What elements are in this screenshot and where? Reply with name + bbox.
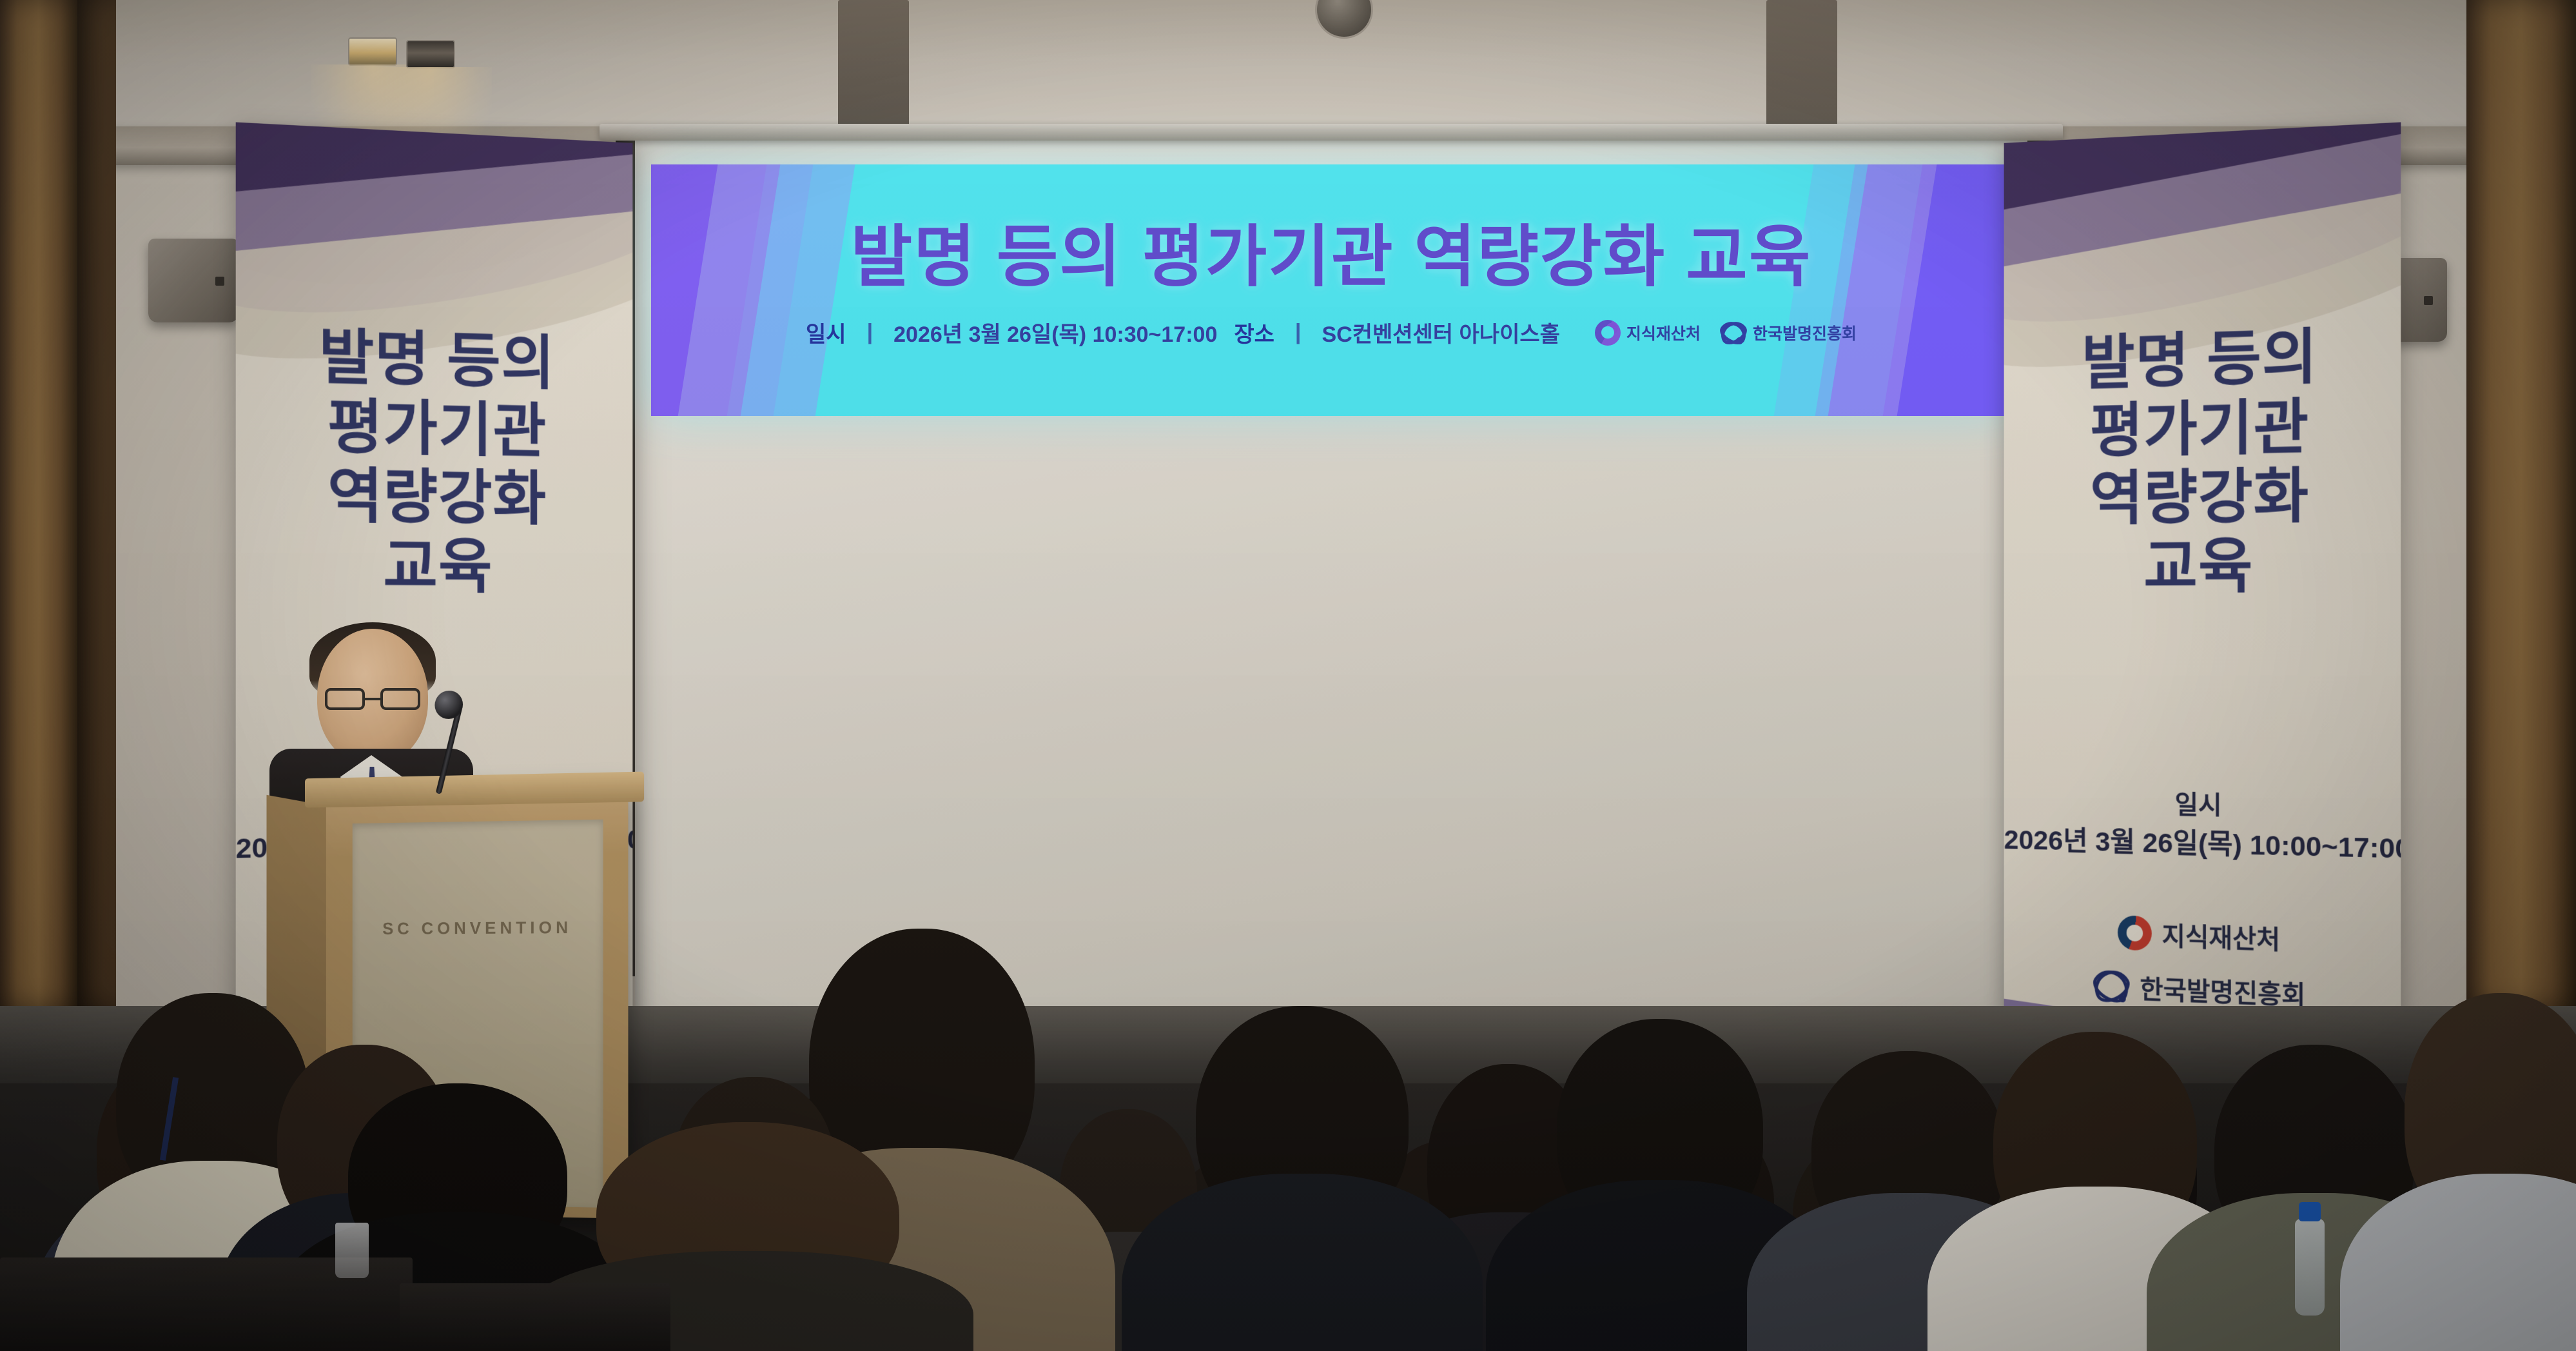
conference-hall-photo: 발명 등의 평가기관 역량강화 교육 일시 | 2026년 3월 26일(목) … <box>0 0 2576 1351</box>
downlight <box>348 37 397 66</box>
slide-logo-group: 지식재산처 한국발명진흥회 <box>1595 320 1857 346</box>
audience-person <box>2385 993 2576 1351</box>
taegeuk-icon <box>1595 320 1621 346</box>
slide-separator: | <box>863 320 877 345</box>
banner-title-line-1: 발명 등의 <box>2004 320 2401 400</box>
banner-title-line-2: 평가기관 <box>236 390 633 468</box>
person-shoulders <box>1122 1174 1483 1351</box>
water-bottle <box>2295 1219 2325 1316</box>
slide-separator: | <box>1291 320 1305 345</box>
audience-table <box>400 1283 670 1351</box>
audience-person <box>1173 1006 1431 1351</box>
banner-title: 발명 등의 평가기관 역량강화 교육 <box>236 320 633 602</box>
slide-date-value: 2026년 3월 26일(목) 10:30~17:00 <box>893 317 1217 348</box>
slide-subtitle: 일시 | 2026년 3월 26일(목) 10:30~17:00 장소 | SC… <box>651 317 2011 348</box>
banner-title: 발명 등의 평가기관 역량강화 교육 <box>2004 320 2401 602</box>
slide-logo-kipo: 지식재산처 <box>1595 320 1701 346</box>
downlight <box>406 40 455 68</box>
audience <box>0 819 2576 1351</box>
atom-icon <box>1720 320 1747 346</box>
slide-date-label: 일시 <box>806 317 846 348</box>
banner-title-line-1: 발명 등의 <box>236 320 633 400</box>
slide-logo-kipa: 한국발명진흥회 <box>1720 320 1857 346</box>
slide-logo-kipo-label: 지식재산처 <box>1626 321 1701 344</box>
slide-title: 발명 등의 평가기관 역량강화 교육 <box>651 202 2011 299</box>
banner-title-line-3: 역량강화 <box>2004 460 2401 535</box>
slide-logo-kipa-label: 한국발명진흥회 <box>1753 321 1857 344</box>
slide-place-label: 장소 <box>1234 317 1274 348</box>
banner-title-line-3: 역량강화 <box>236 460 633 535</box>
slide-place-value: SC컨벤션센터 아나이스홀 <box>1322 317 1559 348</box>
podium-top <box>305 772 644 808</box>
screen-housing <box>600 124 2063 141</box>
glasses-icon <box>325 688 420 710</box>
wall-speaker <box>148 239 239 322</box>
banner-title-line-2: 평가기관 <box>2004 390 2401 468</box>
paper-cup <box>335 1223 369 1278</box>
banner-title-line-4: 교육 <box>2004 531 2401 602</box>
projected-slide: 발명 등의 평가기관 역량강화 교육 일시 | 2026년 3월 26일(목) … <box>651 164 2011 416</box>
banner-title-line-4: 교육 <box>236 531 633 602</box>
